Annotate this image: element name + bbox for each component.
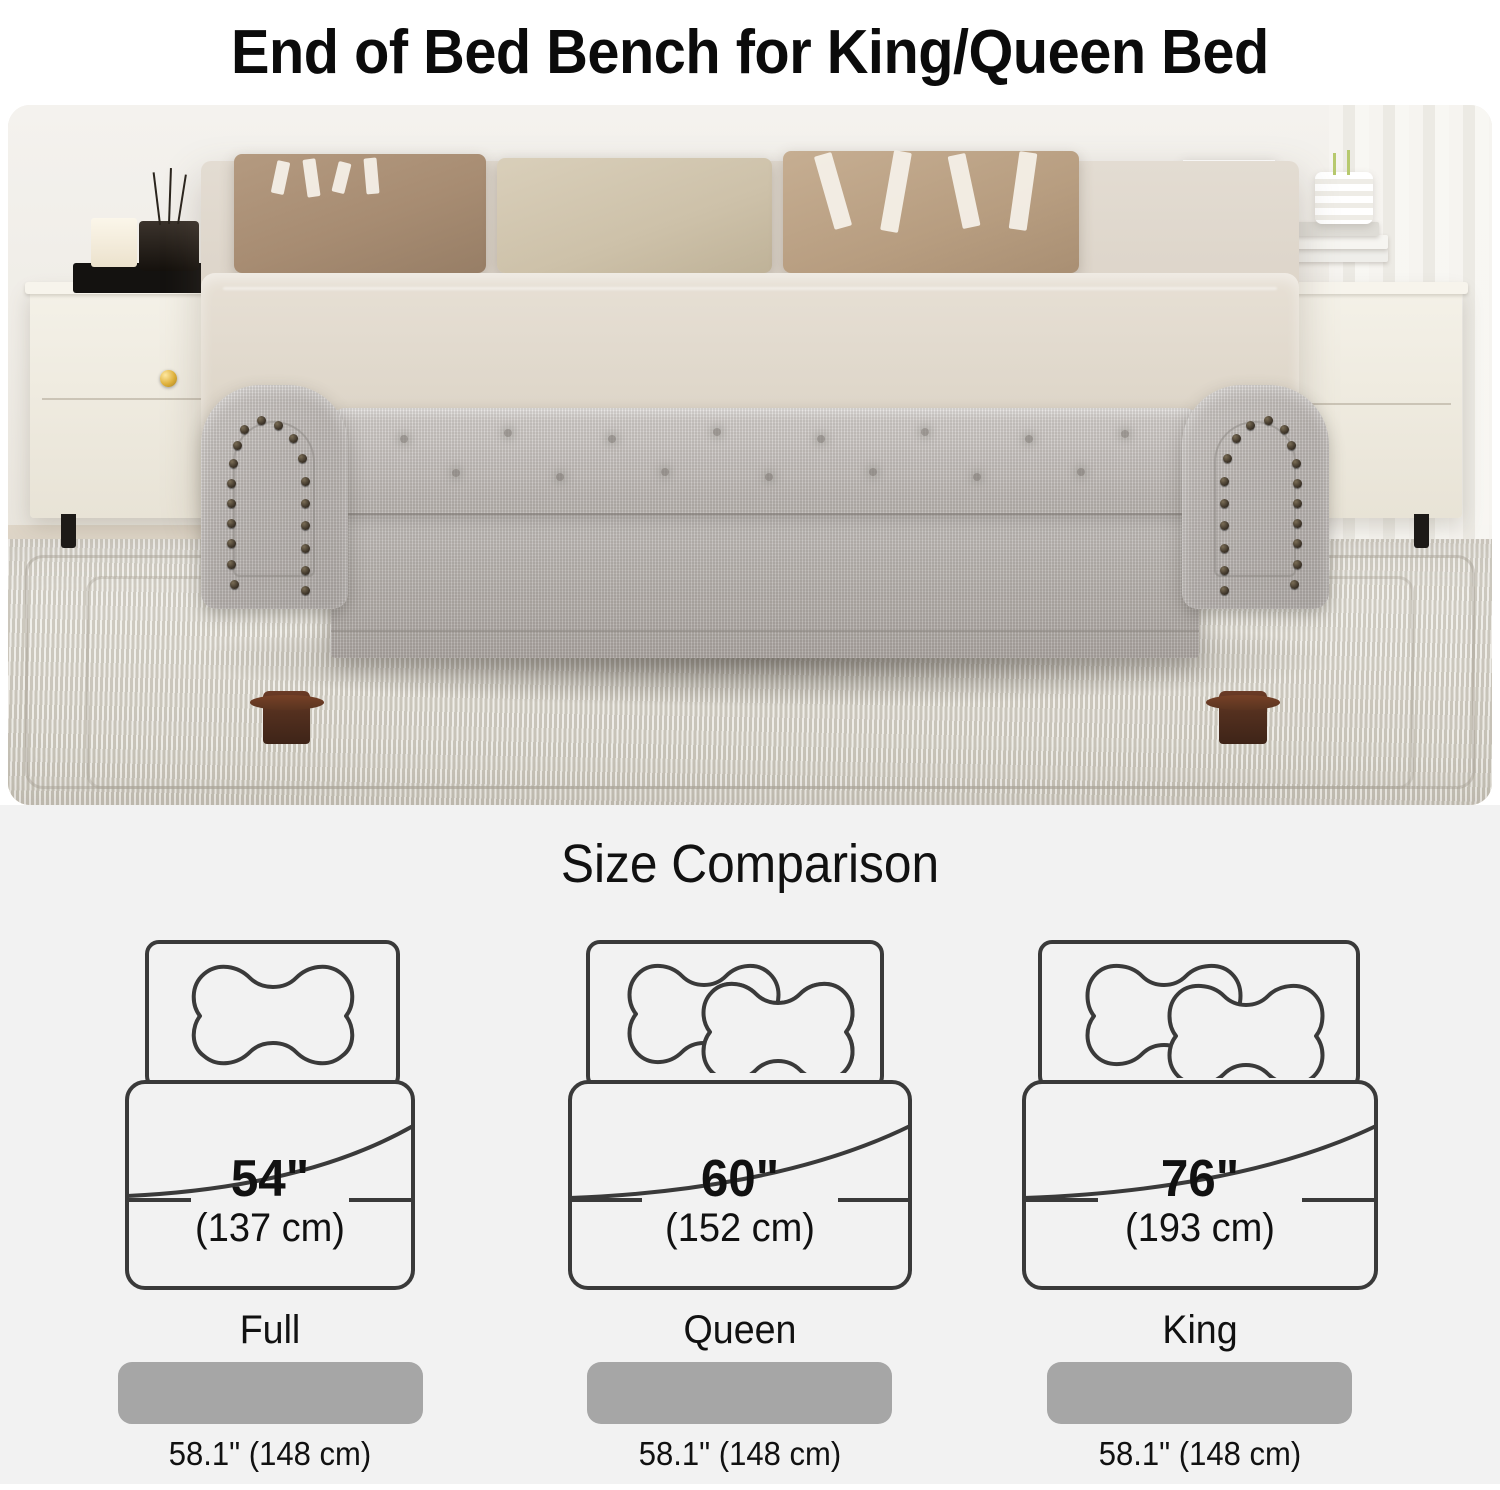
pillow-embroidery xyxy=(364,157,380,194)
tuft-button xyxy=(817,435,825,443)
tuft-button xyxy=(504,429,512,437)
pillow-pattern xyxy=(880,150,912,233)
decor-pillow-patterned xyxy=(783,151,1080,274)
nailhead-stud xyxy=(298,454,307,463)
nailhead-stud xyxy=(1293,519,1302,528)
nailhead-stud xyxy=(1220,586,1229,595)
stacked-book xyxy=(1286,235,1388,249)
queen-bench-length-label: 58.1" (148 cm) xyxy=(590,1435,891,1473)
brass-knob-icon xyxy=(160,370,177,387)
size-comparison-section: Size Comparison 54" (137 cm) xyxy=(0,805,1500,1484)
nailhead-stud xyxy=(1293,560,1302,569)
bed-diagram-row: 54" (137 cm) Full 58.1" (148 cm) xyxy=(0,930,1500,1490)
nightstand-left-leg xyxy=(61,514,76,548)
nailhead-stud xyxy=(301,499,310,508)
queen-dimension-cm: (152 cm) xyxy=(588,1207,892,1249)
tuft-button xyxy=(765,473,773,481)
full-dimension-cm: (137 cm) xyxy=(128,1207,413,1249)
full-bench-bar xyxy=(118,1362,423,1424)
nailhead-stud xyxy=(233,441,242,450)
tuft-button xyxy=(400,435,408,443)
king-dimension-cm: (193 cm) xyxy=(1048,1207,1352,1249)
nailhead-stud xyxy=(301,544,310,553)
nailhead-stud xyxy=(229,459,238,468)
bench-tufted-seat xyxy=(331,408,1199,513)
nailhead-stud xyxy=(1293,499,1302,508)
nailhead-stud xyxy=(257,416,266,425)
pillow-icon xyxy=(616,958,866,1073)
decor-pillow-solid xyxy=(497,158,772,274)
pillow-embroidery xyxy=(331,161,351,194)
bed-diagram-full: 54" (137 cm) Full 58.1" (148 cm) xyxy=(120,930,420,1310)
stacked-book xyxy=(1290,249,1388,262)
nailhead-stud xyxy=(301,477,310,486)
vase-sprig xyxy=(1347,150,1350,175)
decor-reed-diffuser xyxy=(139,221,200,271)
nailhead-stud xyxy=(1293,539,1302,548)
bench-seat-texture xyxy=(331,408,1199,513)
storage-bench xyxy=(201,385,1329,714)
vase-sprig xyxy=(1333,153,1336,175)
nailhead-stud xyxy=(1287,441,1296,450)
pillow-pattern xyxy=(1009,151,1038,231)
king-dimension-inches: 76" xyxy=(1048,1152,1352,1207)
pillow-icon xyxy=(1074,958,1336,1078)
bench-body xyxy=(331,503,1199,658)
nailhead-stud xyxy=(1290,580,1299,589)
bench-leg-left xyxy=(263,691,310,744)
pillow-icon xyxy=(178,960,368,1070)
ribbed-vase xyxy=(1315,172,1373,224)
full-dimension: 54" (137 cm) xyxy=(120,1152,420,1250)
page-header: End of Bed Bench for King/Queen Bed xyxy=(0,0,1500,105)
bench-rolled-arm-left xyxy=(201,385,348,609)
pillow-pattern xyxy=(947,153,980,229)
pillow-embroidery xyxy=(302,158,320,197)
pillow-embroidery xyxy=(271,160,290,195)
nightstand-right-leg xyxy=(1414,514,1429,548)
product-photo xyxy=(8,105,1492,805)
duvet-fold xyxy=(223,287,1277,290)
tuft-button xyxy=(1025,435,1033,443)
nailhead-stud xyxy=(230,580,239,589)
queen-dimension: 60" (152 cm) xyxy=(580,1152,900,1250)
nailhead-stud xyxy=(1232,434,1241,443)
nailhead-stud xyxy=(1220,544,1229,553)
tuft-button xyxy=(661,468,669,476)
tuft-button xyxy=(713,428,721,436)
full-size-label: Full xyxy=(129,1308,411,1353)
tuft-button xyxy=(921,428,929,436)
nailhead-stud xyxy=(1220,477,1229,486)
bench-base-seam xyxy=(331,630,1199,632)
decor-candle xyxy=(91,218,137,267)
queen-size-label: Queen xyxy=(590,1308,891,1353)
tuft-button xyxy=(556,473,564,481)
bench-leg-right xyxy=(1219,691,1266,744)
queen-dimension-inches: 60" xyxy=(588,1152,892,1207)
full-dimension-inches: 54" xyxy=(128,1152,413,1207)
bench-rolled-arm-right xyxy=(1182,385,1329,609)
stacked-book xyxy=(1296,222,1379,236)
tuft-button xyxy=(973,473,981,481)
tuft-button xyxy=(1077,468,1085,476)
tuft-button xyxy=(608,435,616,443)
nailhead-stud xyxy=(274,421,283,430)
bed-diagram-queen: 60" (152 cm) Queen 58.1" (148 cm) xyxy=(580,930,900,1310)
nailhead-stud xyxy=(301,586,310,595)
nailhead-stud xyxy=(1280,425,1289,434)
king-bench-length-label: 58.1" (148 cm) xyxy=(1050,1435,1351,1473)
page-title: End of Bed Bench for King/Queen Bed xyxy=(231,22,1269,84)
tuft-button xyxy=(869,468,877,476)
king-dimension: 76" (193 cm) xyxy=(1040,1152,1360,1250)
bed-diagram-king: 76" (193 cm) King 58.1" (148 cm) xyxy=(1040,930,1360,1310)
pillow-pattern xyxy=(814,152,852,230)
nailhead-stud xyxy=(1292,459,1301,468)
full-bench-length-label: 58.1" (148 cm) xyxy=(129,1435,411,1473)
tuft-button xyxy=(1121,430,1129,438)
decor-pillow-embroidered xyxy=(234,154,487,273)
size-comparison-heading: Size Comparison xyxy=(60,837,1440,891)
nailhead-stud xyxy=(227,560,236,569)
king-bench-bar xyxy=(1047,1362,1352,1424)
tuft-button xyxy=(452,469,460,477)
nailhead-stud xyxy=(301,566,310,575)
king-size-label: King xyxy=(1050,1308,1351,1353)
nailhead-stud xyxy=(289,434,298,443)
nailhead-stud xyxy=(1293,479,1302,488)
bench-fabric-texture xyxy=(331,503,1199,658)
queen-bench-bar xyxy=(587,1362,892,1424)
